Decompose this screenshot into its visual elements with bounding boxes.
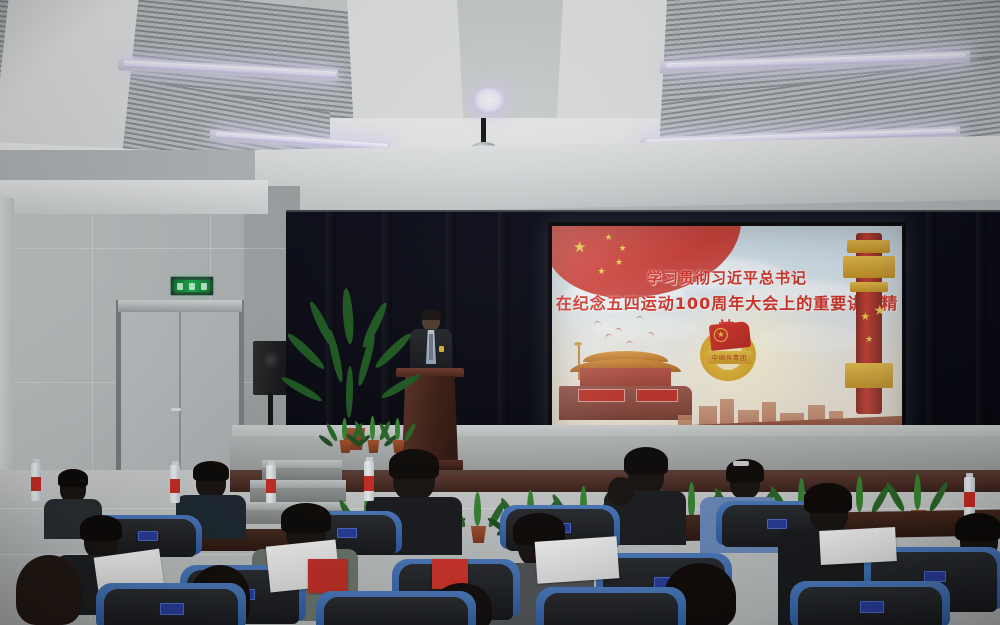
plant-pot	[366, 440, 381, 453]
plant-pot	[338, 440, 353, 453]
ceiling-soffit-left	[0, 180, 268, 214]
attendee-hair	[16, 555, 82, 625]
handout-paper	[535, 536, 620, 584]
attendee-hair	[281, 503, 331, 533]
presenter-at-podium	[408, 310, 454, 372]
seat-number-tag	[160, 603, 184, 615]
photo-scene: ★ ★ ★ ★ ★ 学习贯彻习近平总书记 在纪念五四运动100周年大会上的重要讲…	[0, 0, 1000, 625]
water-bottle	[964, 477, 975, 517]
projection-screen: ★ ★ ★ ★ ★ 学习贯彻习近平总书记 在纪念五四运动100周年大会上的重要讲…	[552, 226, 902, 452]
water-bottle	[364, 461, 374, 501]
chair-back	[324, 597, 468, 625]
handout-paper	[819, 527, 897, 565]
presenter-tie	[429, 334, 433, 360]
audience-area	[0, 455, 1000, 625]
left-wall-corner	[0, 198, 14, 498]
handout-paper	[308, 559, 348, 593]
hair-clip	[733, 461, 749, 466]
attendee-hair	[389, 449, 439, 479]
seat-number-tag	[767, 519, 787, 529]
seat-number-tag	[337, 528, 357, 538]
presenter-badge	[439, 346, 444, 352]
projection-screen-frame: ★ ★ ★ ★ ★ 学习贯彻习近平总书记 在纪念五四运动100周年大会上的重要讲…	[548, 222, 906, 456]
attendee-hair	[193, 461, 229, 481]
attendee-hair	[58, 469, 88, 487]
water-bottle	[170, 465, 180, 503]
attendee-hair	[804, 483, 852, 513]
screen-vignette	[552, 226, 902, 452]
presenter-hair	[421, 309, 441, 320]
podium-top	[396, 368, 464, 377]
recessed-downlight	[472, 88, 506, 114]
attendee-hair	[624, 447, 668, 475]
water-bottle	[266, 465, 276, 503]
water-bottle	[31, 463, 41, 501]
pa-loudspeaker	[253, 341, 287, 395]
seat-number-tag	[860, 601, 884, 613]
door-handle[interactable]	[171, 408, 181, 411]
attendee-hair	[955, 513, 1000, 541]
potted-fern	[384, 418, 412, 452]
attendee-hair	[80, 515, 122, 541]
chair-back	[544, 593, 678, 625]
seat-number-tag	[138, 531, 158, 541]
attendee-head	[608, 477, 634, 505]
exit-sign	[170, 276, 214, 296]
door-header-trim	[118, 300, 242, 312]
